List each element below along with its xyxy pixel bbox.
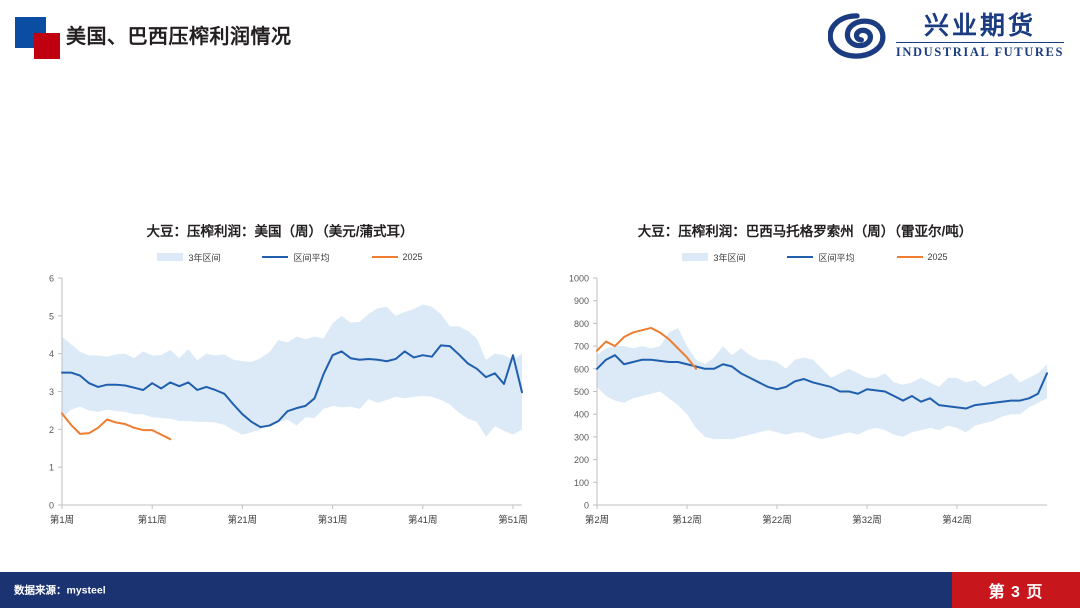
logo-mark [15,17,67,61]
chart-plot-area: 0123456第1周第11周第21周第31周第41周第51周 [30,272,530,547]
page-footer: 数据来源：mysteel 第 3 页 [0,572,1080,608]
svg-text:3: 3 [49,387,54,397]
legend-item-average: 区间平均 [262,251,329,264]
svg-text:700: 700 [574,342,589,352]
legend-swatch-average-icon [262,256,288,259]
brand-wordmark: 兴业期货 INDUSTRIAL FUTURES [896,14,1064,59]
svg-text:第32周: 第32周 [852,514,882,526]
svg-text:第41周: 第41周 [408,514,438,526]
svg-text:100: 100 [574,478,589,488]
legend-swatch-current-icon [372,256,398,259]
svg-text:1: 1 [49,463,54,473]
legend-item-band: 3年区间 [157,251,220,264]
legend-item-average: 区间平均 [787,251,854,264]
chart-legend: 3年区间 区间平均 2025 [30,244,530,270]
legend-swatch-band-icon [157,253,183,261]
svg-text:0: 0 [49,501,54,511]
svg-text:第22周: 第22周 [762,514,792,526]
svg-text:500: 500 [574,387,589,397]
legend-label-average: 区间平均 [818,251,854,264]
legend-label-current: 2025 [928,252,948,262]
chart-plot-area: 01002003004005006007008009001000第2周第12周第… [555,272,1055,547]
chart-title: 大豆：压榨利润：巴西马托格罗索州（周）（雷亚尔/吨） [555,220,1055,240]
legend-label-average: 区间平均 [293,251,329,264]
svg-text:4: 4 [49,349,54,359]
svg-text:800: 800 [574,319,589,329]
chart-legend: 3年区间 区间平均 2025 [555,244,1055,270]
legend-swatch-average-icon [787,256,813,259]
chart-soybean-crush-margin-brazil: 大豆：压榨利润：巴西马托格罗索州（周）（雷亚尔/吨） 3年区间 区间平均 202… [555,220,1055,550]
svg-text:第1周: 第1周 [50,514,74,526]
svg-text:0: 0 [584,501,589,511]
legend-label-band: 3年区间 [713,251,745,264]
legend-item-current: 2025 [372,252,423,262]
legend-item-current: 2025 [897,252,948,262]
svg-text:600: 600 [574,364,589,374]
chart-title: 大豆：压榨利润：美国（周）（美元/蒲式耳） [30,220,530,240]
svg-text:1000: 1000 [569,274,589,284]
svg-text:第42周: 第42周 [942,514,972,526]
svg-text:第21周: 第21周 [228,514,258,526]
svg-text:2: 2 [49,425,54,435]
svg-text:6: 6 [49,274,54,284]
svg-text:400: 400 [574,410,589,420]
logo-square-red [34,33,60,59]
brand-name-cn: 兴业期货 [924,14,1036,39]
page-number-label: 第 3 页 [989,578,1044,602]
legend-item-band: 3年区间 [682,251,745,264]
svg-text:第11周: 第11周 [138,514,167,526]
legend-swatch-band-icon [682,253,708,261]
legend-swatch-current-icon [897,256,923,259]
legend-label-current: 2025 [403,252,423,262]
svg-text:第12周: 第12周 [672,514,702,526]
brand-name-en: INDUSTRIAL FUTURES [896,46,1064,59]
data-source-label: 数据来源：mysteel [14,583,106,598]
page-header: 美国、巴西压榨利润情况 兴业期货 INDUSTRIAL FUTURES [0,0,1080,74]
svg-text:5: 5 [49,311,54,321]
svg-text:900: 900 [574,296,589,306]
svg-text:第31周: 第31周 [318,514,348,526]
chart-soybean-crush-margin-us: 大豆：压榨利润：美国（周）（美元/蒲式耳） 3年区间 区间平均 2025 012… [30,220,530,550]
svg-text:第2周: 第2周 [585,514,609,526]
swirl-icon [828,13,886,59]
svg-text:300: 300 [574,432,589,442]
company-logo: 兴业期货 INDUSTRIAL FUTURES [828,7,1064,65]
brand-divider [896,42,1064,43]
page-title: 美国、巴西压榨利润情况 [66,20,292,49]
svg-text:200: 200 [574,455,589,465]
svg-text:第51周: 第51周 [498,514,528,526]
legend-label-band: 3年区间 [188,251,220,264]
page-number-block: 第 3 页 [952,572,1080,608]
